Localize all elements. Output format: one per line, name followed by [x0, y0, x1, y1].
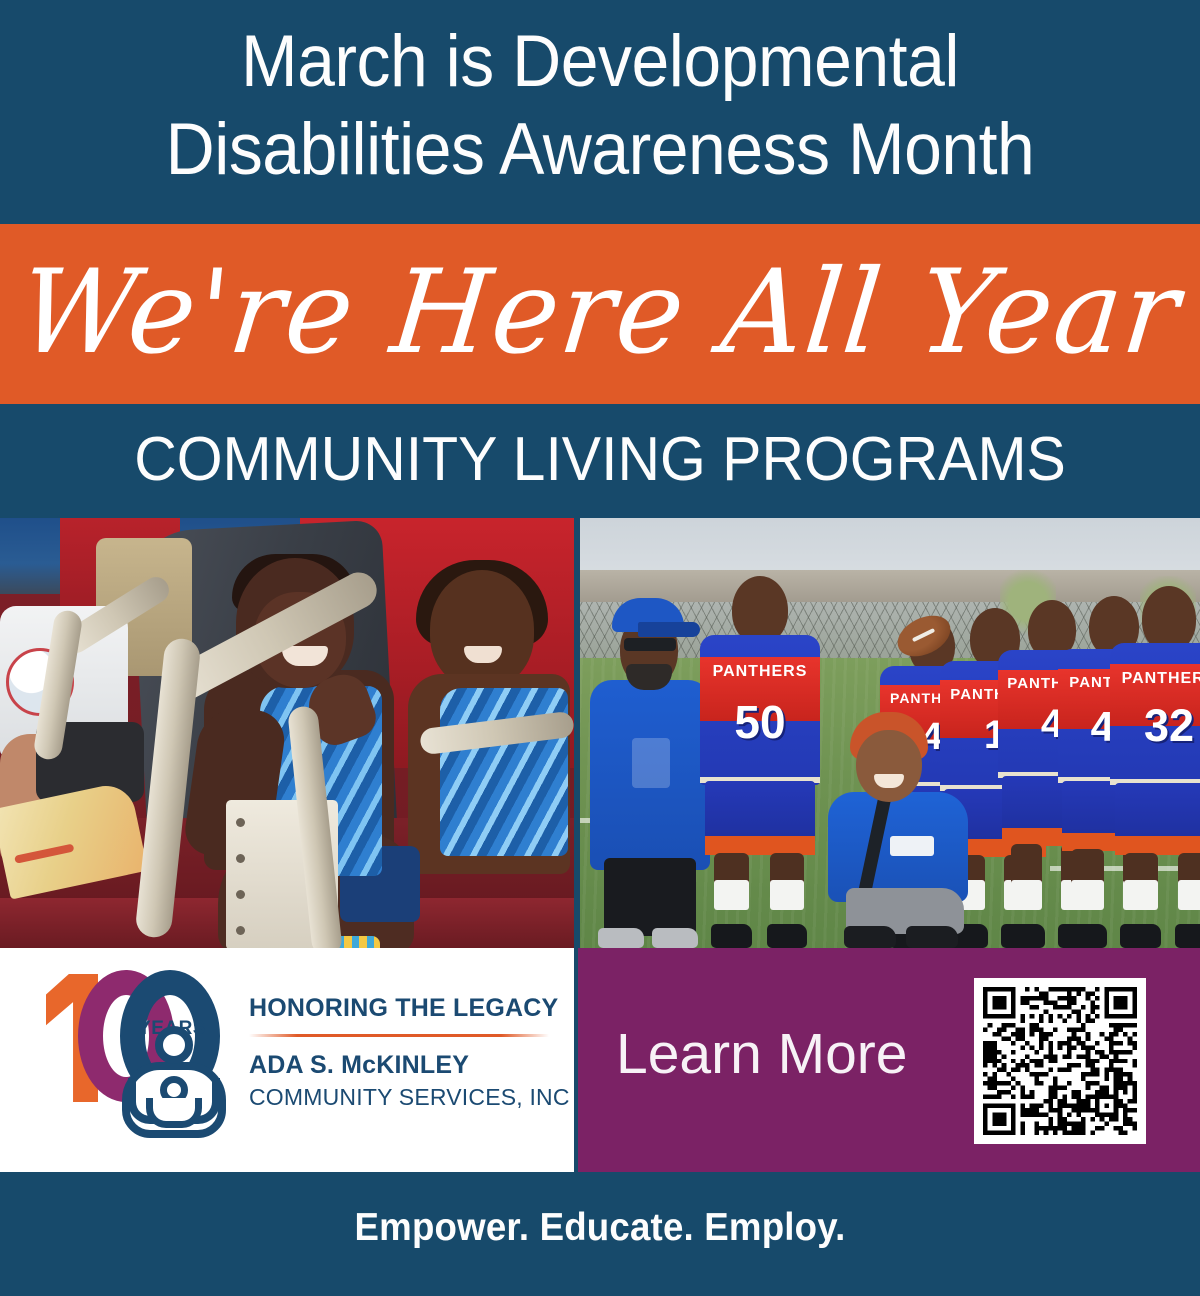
- player-jersey-number: 32: [1110, 700, 1200, 752]
- kneeling-participant: [828, 712, 968, 948]
- player-sock: [1178, 880, 1200, 910]
- script-band: We're Here All Year: [0, 224, 1200, 404]
- player-team-name: PANTHERS: [700, 663, 820, 681]
- player-sock: [714, 880, 749, 910]
- coach-pants: [604, 858, 696, 936]
- poster-canvas: March is Developmental Disabilities Awar…: [0, 0, 1200, 1296]
- photo-amusement-ride: [0, 518, 574, 948]
- player-shorts: [705, 781, 815, 855]
- script-headline: We're Here All Year: [10, 238, 1190, 388]
- coach-hoodie-logo: [632, 738, 670, 788]
- qr-code-canvas[interactable]: [983, 987, 1137, 1135]
- coach-shoe: [598, 928, 644, 948]
- photo-football-team: PANTHERS50PANTHERS4PANTHERS1PANTHERS4PAN…: [580, 518, 1200, 948]
- player-sock: [770, 880, 805, 910]
- logo-tagline: HONORING THE LEGACY: [249, 994, 549, 1023]
- headline-line-2: Disabilities Awareness Month: [42, 106, 1158, 194]
- player-shoe: [711, 924, 752, 948]
- qr-code[interactable]: [974, 978, 1146, 1144]
- football-player: PANTHERS32: [1110, 586, 1200, 948]
- player-shorts: [1115, 783, 1200, 855]
- headline-line-1: March is Developmental: [241, 21, 959, 102]
- kneeler-head: [856, 730, 922, 802]
- parent-child-figure-icon: [122, 1026, 226, 1138]
- player-team-name: PANTHERS: [1110, 670, 1200, 688]
- coach-sunglasses: [624, 638, 676, 651]
- figure-head: [155, 1026, 193, 1064]
- kneeler-shoe: [844, 926, 896, 948]
- footer-tagline: Empower. Educate. Employ.: [36, 1206, 1164, 1250]
- learn-more-panel[interactable]: Learn More: [578, 948, 1200, 1172]
- subtitle-band: COMMUNITY LIVING PROGRAMS: [0, 404, 1200, 518]
- coach-shoe: [652, 928, 698, 948]
- figure-child-body: [146, 1098, 202, 1128]
- organization-name: ADA S. McKINLEY: [249, 1051, 549, 1080]
- player-jersey-number: 50: [700, 695, 820, 749]
- kneeler-shoe: [906, 926, 958, 948]
- page-title: March is Developmental Disabilities Awar…: [42, 18, 1158, 194]
- headline-band: March is Developmental Disabilities Awar…: [0, 0, 1200, 224]
- player-shoe: [1121, 924, 1161, 948]
- coach-figure: [590, 588, 710, 948]
- player-sock: [1011, 880, 1042, 910]
- logo-panel: YEARS HONORING THE LEGACY ADA S. McKINLE…: [0, 948, 574, 1172]
- logo-cta-band: YEARS HONORING THE LEGACY ADA S. McKINLE…: [0, 948, 1200, 1172]
- rider2-head: [430, 570, 534, 688]
- logo-divider: [249, 1034, 549, 1037]
- footer-band: Empower. Educate. Employ.: [0, 1172, 1200, 1296]
- photo-strip: PANTHERS50PANTHERS4PANTHERS1PANTHERS4PAN…: [0, 518, 1200, 948]
- coach-cap-brim: [638, 622, 700, 637]
- logo-wordmark: HONORING THE LEGACY ADA S. McKINLEY COMM…: [249, 994, 549, 1111]
- player-sock: [1071, 880, 1103, 910]
- player-shoe: [1068, 924, 1106, 948]
- learn-more-label[interactable]: Learn More: [616, 1022, 908, 1086]
- organization-subtitle: COMMUNITY SERVICES, INC: [249, 1084, 549, 1111]
- player-sock: [1124, 880, 1158, 910]
- player-shoe: [767, 924, 808, 948]
- football-player: PANTHERS50: [700, 576, 820, 948]
- coach-beard: [626, 664, 672, 690]
- kneeler-badge: [890, 836, 934, 856]
- player-shoe: [1175, 924, 1200, 948]
- player-shoe: [1008, 924, 1045, 948]
- program-name: COMMUNITY LIVING PROGRAMS: [30, 422, 1170, 498]
- player-head: [1142, 586, 1196, 652]
- anniversary-logo-mark: YEARS: [46, 968, 231, 1138]
